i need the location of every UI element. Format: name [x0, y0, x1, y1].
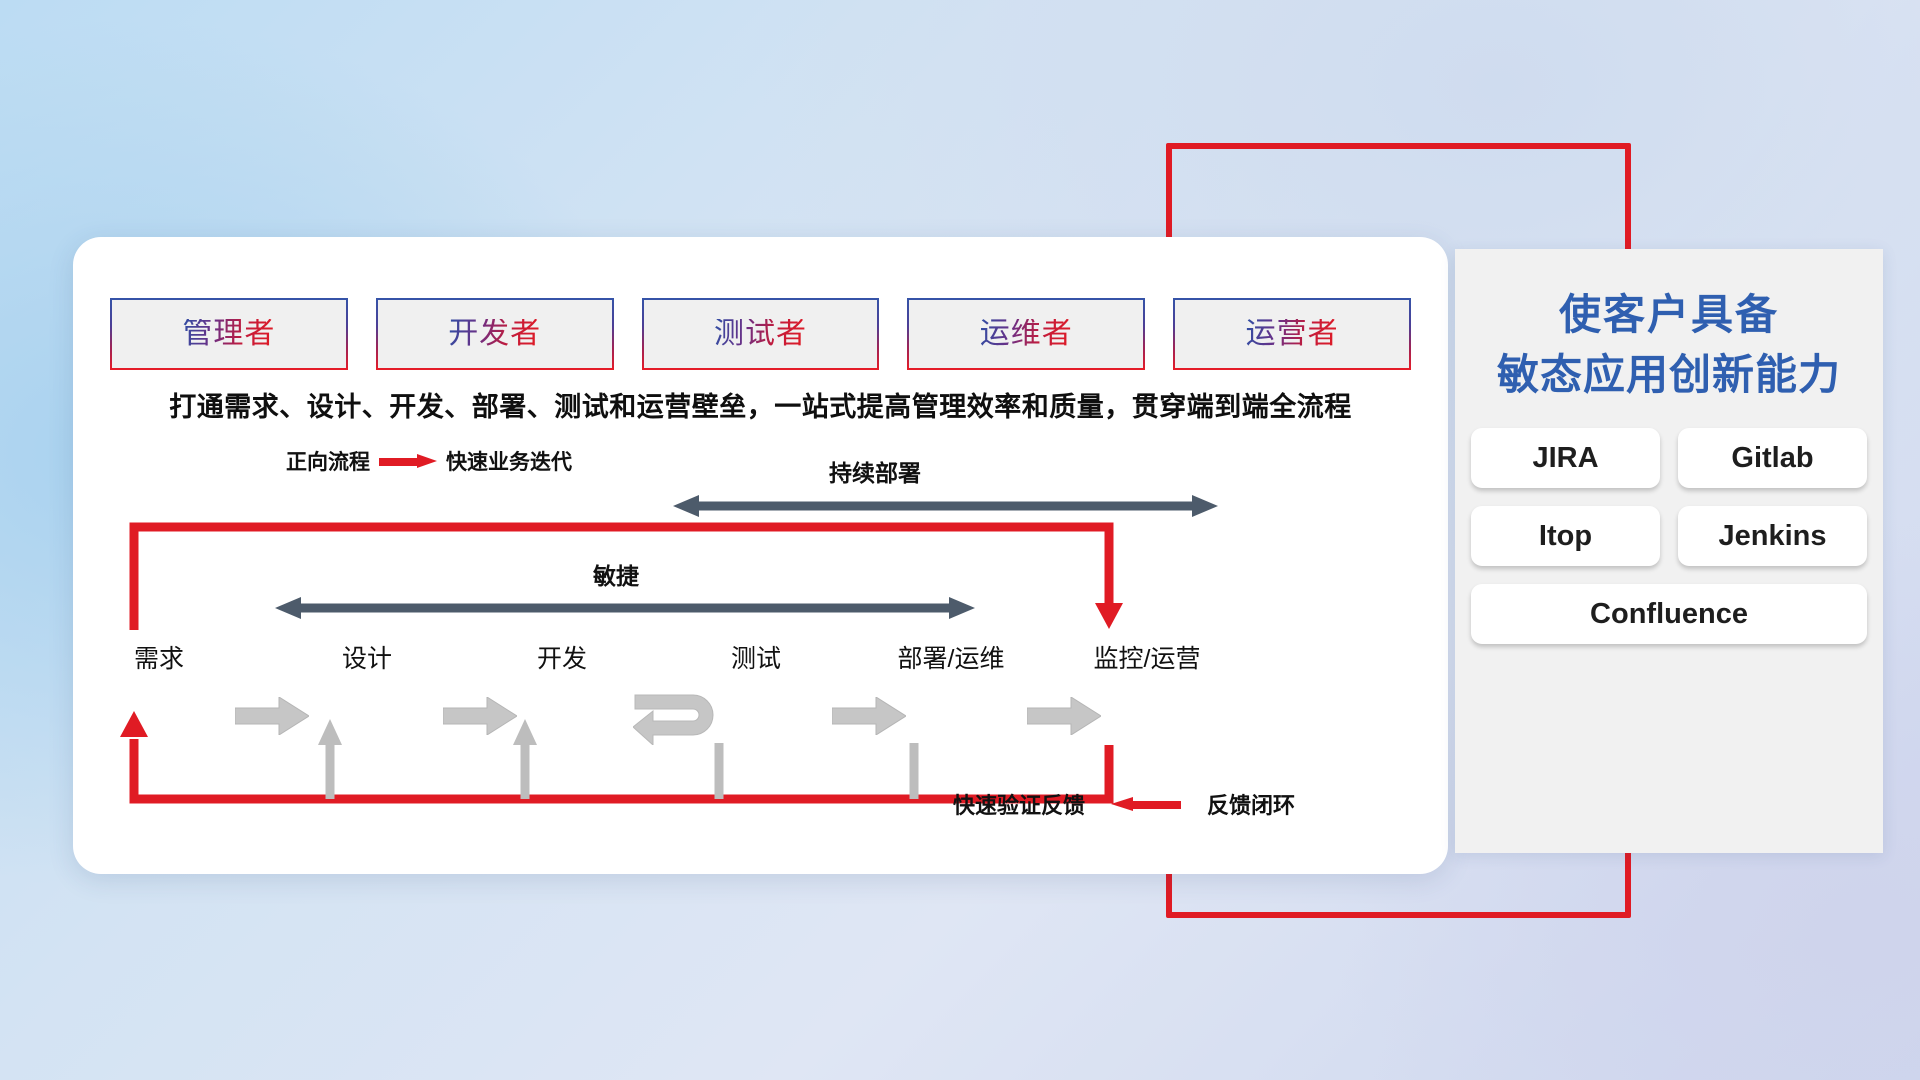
- tool-badge-gitlab[interactable]: Gitlab: [1678, 428, 1867, 488]
- headline-text: 打通需求、设计、开发、部署、测试和运营壁垒，一站式提高管理效率和质量，贯穿端到端…: [73, 385, 1448, 424]
- role-label: 开发者: [448, 319, 541, 349]
- tool-badge-jira[interactable]: JIRA: [1471, 428, 1660, 488]
- arrow-right-red-icon: [379, 454, 437, 468]
- pipeline-node-monitor-operate[interactable]: 监控/运营: [1109, 677, 1185, 753]
- pipeline-node-develop[interactable]: 开发: [524, 677, 600, 753]
- role-box-business-ops[interactable]: 运营者: [1175, 300, 1409, 368]
- arrow-right-gray-icon: [1027, 697, 1101, 735]
- slide-canvas: 管理者 开发者 测试者 运维者 运营者 打通需求、设计、开发、部署、测试和运营壁…: [0, 0, 1920, 1080]
- forward-flow-legend: 正向流程 快速业务迭代: [286, 446, 572, 476]
- role-box-operations[interactable]: 运维者: [909, 300, 1143, 368]
- pipeline-node-label: 设计: [342, 639, 392, 675]
- arrow-left-red-icon: [1111, 797, 1181, 811]
- feedback-target-label: 快速验证反馈: [953, 788, 1085, 820]
- role-box-row: 管理者 开发者 测试者 运维者 运营者: [112, 300, 1409, 368]
- arrow-right-gray-icon: [443, 697, 517, 735]
- tool-badge-itop[interactable]: Itop: [1471, 506, 1660, 566]
- role-label: 运营者: [1246, 319, 1339, 349]
- role-label: 运维者: [980, 319, 1073, 349]
- main-card: 管理者 开发者 测试者 运维者 运营者 打通需求、设计、开发、部署、测试和运营壁…: [73, 237, 1448, 874]
- pipeline-row: 需求 设计 开发 测试: [121, 633, 1411, 753]
- role-box-developer[interactable]: 开发者: [378, 300, 612, 368]
- feedback-source-label: 反馈闭环: [1207, 788, 1295, 820]
- value-proposition-panel: 使客户具备 敏态应用创新能力 JIRA Gitlab Itop Jenkins …: [1455, 249, 1883, 853]
- agile-label: 敏捷: [593, 557, 639, 591]
- continuous-deploy-label: 持续部署: [829, 454, 921, 488]
- panel-heading-line2: 敏态应用创新能力: [1455, 345, 1883, 405]
- arrow-right-gray-icon: [235, 697, 309, 735]
- pipeline-node-design[interactable]: 设计: [329, 677, 405, 753]
- pipeline-node-deploy-ops[interactable]: 部署/运维: [913, 677, 989, 753]
- tool-badge-jenkins[interactable]: Jenkins: [1678, 506, 1867, 566]
- forward-flow-source-label: 正向流程: [286, 446, 370, 476]
- pipeline-node-label: 测试: [731, 639, 781, 675]
- agile-span-arrow-icon: [275, 597, 975, 619]
- continuous-deploy-arrow-icon: [673, 495, 1218, 517]
- arrow-right-gray-icon: [832, 697, 906, 735]
- panel-heading-line1: 使客户具备: [1455, 285, 1883, 345]
- loop-back-arrow-icon: [633, 689, 731, 745]
- tool-badge-confluence[interactable]: Confluence: [1471, 584, 1867, 644]
- pipeline-node-label: 监控/运营: [1094, 639, 1201, 675]
- role-label: 管理者: [182, 319, 275, 349]
- pipeline-node-label: 开发: [537, 639, 587, 675]
- pipeline-node-label: 需求: [134, 639, 184, 675]
- role-box-tester[interactable]: 测试者: [644, 300, 878, 368]
- panel-heading: 使客户具备 敏态应用创新能力: [1455, 285, 1883, 404]
- feedback-loop-legend: 快速验证反馈 反馈闭环: [953, 788, 1295, 820]
- role-label: 测试者: [714, 319, 807, 349]
- role-box-manager[interactable]: 管理者: [112, 300, 346, 368]
- tool-badge-grid: JIRA Gitlab Itop Jenkins Confluence: [1471, 428, 1867, 644]
- pipeline-node-test[interactable]: 测试: [718, 677, 794, 753]
- pipeline-node-label: 部署/运维: [898, 639, 1005, 675]
- forward-flow-target-label: 快速业务迭代: [446, 446, 572, 476]
- pipeline-node-requirements[interactable]: 需求: [121, 677, 197, 753]
